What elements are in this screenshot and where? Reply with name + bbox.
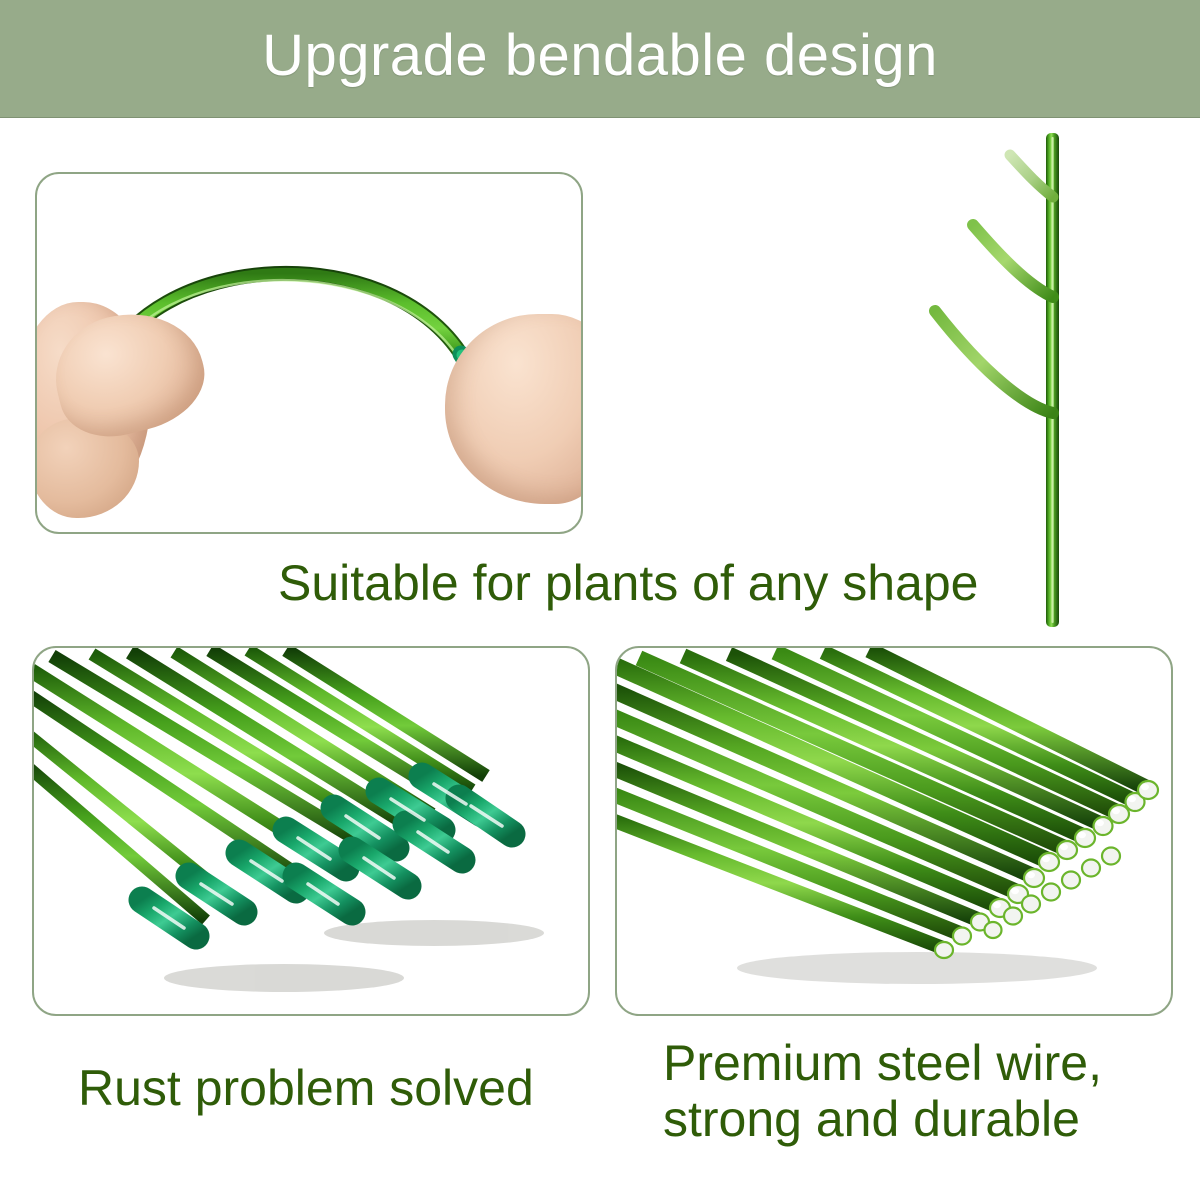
cap-shadows bbox=[164, 920, 544, 992]
infographic-page: Upgrade bendable design bbox=[0, 0, 1200, 1200]
green-rods-steel-wire-cores-image bbox=[617, 648, 1171, 1014]
plant-stem-with-bent-branches bbox=[895, 125, 1195, 635]
caption-rust-proof: Rust problem solved bbox=[78, 1060, 534, 1116]
steel-core-bundle-illustration bbox=[617, 648, 1171, 1014]
bundle-shadow bbox=[737, 952, 1097, 984]
caption-bending-demo: Suitable for plants of any shape bbox=[278, 555, 978, 611]
caption-steel-core: Premium steel wire, strong and durable bbox=[663, 1035, 1102, 1147]
bundle-shafts bbox=[617, 650, 1147, 948]
stem-branch-middle bbox=[973, 225, 1053, 297]
stem-illustration bbox=[895, 125, 1195, 635]
card-steel-core bbox=[615, 646, 1173, 1016]
green-rods-with-jade-caps-image bbox=[34, 648, 588, 1014]
card-rust-proof bbox=[32, 646, 590, 1016]
hands-bending-green-rod-image bbox=[37, 174, 581, 532]
card-bending-demo bbox=[35, 172, 583, 534]
header-band: Upgrade bendable design bbox=[0, 0, 1200, 118]
stem-highlight bbox=[1052, 137, 1054, 623]
capped-rods-illustration bbox=[34, 648, 588, 1014]
page-title: Upgrade bendable design bbox=[262, 27, 938, 91]
stem-branch-bottom bbox=[935, 311, 1053, 413]
